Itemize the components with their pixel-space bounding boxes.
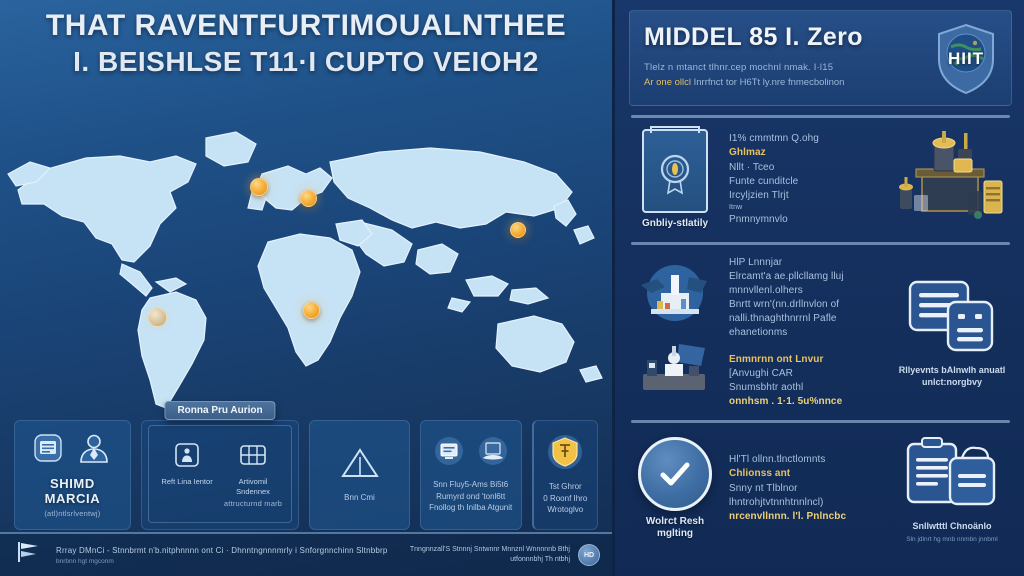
- card-reports-line-3: Fnollog th Inilba Atgunit: [429, 502, 512, 514]
- row-linear-b1-line-6: ehanetionms: [729, 326, 884, 340]
- row-result-art-caption: Snllwtttl Chnoänlo: [913, 521, 992, 533]
- row-result-line-4: lhntrohjtvtnnhtnnlncl): [729, 496, 884, 510]
- row-result-line-3: Snny nt Tlblnor: [729, 482, 884, 496]
- globe-factory-icon: [635, 263, 715, 330]
- row-linear-b2-line-2: [Anvughi CAR: [729, 367, 884, 381]
- row-result-art-col: Snllwtttl Chnoänlo Sln jdlnrt hg mnb nnm…: [892, 434, 1012, 543]
- clipboard-pair-illustration: [904, 434, 1000, 515]
- right-header-title: MIDDEL 85 I. Zero: [644, 23, 929, 52]
- right-header-sub2-rest: Inrrfnct tor H6Tt ly.nre fnmecbolinon: [691, 77, 844, 88]
- row-linear-b1-line-1: HlP Lnnnjar: [729, 256, 884, 270]
- row-quality-line-2: Ghlmaz: [729, 146, 884, 160]
- person-shield-icon: [77, 433, 111, 468]
- sub-item-second[interactable]: Artivomil Sndennex attructurnd marb: [222, 442, 284, 509]
- marker-east-asia[interactable]: [510, 222, 526, 238]
- card-gold-shield-line-3: Wrotoglvo: [547, 504, 583, 516]
- row-linear-icon-col: [629, 263, 721, 401]
- card-reports-line-1: Snn Fluy5-Ams Bi5t6: [433, 479, 508, 491]
- row-result-line-2: Chlionss ant: [729, 467, 884, 481]
- row-quality-text: I1% cmmtmn Q.ohg Ghlmaz Nllt · Tceo Funt…: [729, 132, 884, 227]
- row-linear[interactable]: HlP Lnnnjar Elrcamt'a ae.pllcllamg lluj …: [629, 254, 1012, 412]
- footer-line-2: bnrbnn hgt mgconm: [56, 558, 400, 565]
- shield-globe-icon: HIIT: [935, 23, 997, 95]
- card-round-production[interactable]: Ronna Pru Aurion Reft Lina Ientor: [141, 420, 300, 530]
- left-card-strip: SHIMD MARCIA (atl)ntlsrlventwj) Ronna Pr…: [14, 420, 598, 530]
- row-result-art-caption-sub: Sln jdlnrt hg mnb nnmbn jnnbml: [906, 536, 997, 543]
- production-tooltip: Ronna Pru Aurion: [164, 401, 275, 420]
- row-linear-b1-line-4: Bnrtt wrn'(nn.drllnvlon of: [729, 298, 884, 312]
- gold-refinery-illustration: [894, 129, 1010, 230]
- row-linear-text: HlP Lnnnjar Elrcamt'a ae.pllcllamg lluj …: [729, 256, 884, 410]
- check-circle-icon: [638, 437, 712, 511]
- row-result-icon-caption: Wolrct Resh mglting: [646, 516, 704, 541]
- row-quality-art-col: [892, 129, 1012, 230]
- card-gold-shield[interactable]: Tst Ghror 0 Roonf Ihro Wrotoglvo: [532, 420, 598, 530]
- certificate-icon: [642, 129, 708, 213]
- production-caption: attructurnd marb: [224, 499, 282, 508]
- row-quality-line-3: Nllt · Tceo: [729, 161, 884, 175]
- row-linear-b1-line-3: mnnvllenl.olhers: [729, 284, 884, 298]
- footer-right-line-1: Tnngnnzall'S Stnnnj Sntwnnr Mnnznl Wnnnn…: [410, 545, 570, 556]
- card-shimd-marcia-icons: [33, 433, 111, 468]
- document-icon: [33, 433, 63, 468]
- footer-right: Tnngnnzall'S Stnnnj Sntwnnr Mnnznl Wnnnn…: [410, 544, 600, 566]
- sub-item-first-label: Reft Lina Ientor: [161, 477, 212, 487]
- row-linear-b2-line-4: onnhsm . 1·1. 5u%nnce: [729, 395, 884, 409]
- row-linear-b2-line-3: Snumsbhtr aothl: [729, 381, 884, 395]
- world-map[interactable]: [0, 112, 612, 412]
- page-title-line2: I. BEISHLSE T11·I CUPTO VEIOH2: [24, 45, 588, 79]
- row-quality-line-1: I1% cmmtmn Q.ohg: [729, 132, 884, 146]
- divider-1: [631, 115, 1010, 118]
- row-result-line-1: Hl'Tl ollnn.tlnctlomnts: [729, 453, 884, 467]
- footer-line-1: Rrray DMnCi - Stnnbrmt n'b.nitphnnnn ont…: [56, 546, 400, 555]
- footer-text: Rrray DMnCi - Stnnbrmt n'b.nitphnnnn ont…: [56, 546, 400, 565]
- card-reports[interactable]: Snn Fluy5-Ams Bi5t6 Rumyrd ond 'tonl6tt …: [420, 420, 522, 530]
- title-number: 85: [749, 23, 778, 51]
- right-header: MIDDEL 85 I. Zero Tlelz n mtanct tlhnr.c…: [629, 10, 1012, 106]
- page-title-line1: THAT RAVENTFURTIMOUALNTHEE: [46, 9, 566, 42]
- book-icon: [478, 436, 508, 471]
- card-reports-icons: [434, 436, 508, 471]
- triangle-icon: [340, 446, 380, 485]
- grid-box-icon: [239, 442, 267, 473]
- row-linear-block-2: Enmnrnn ont Lnvur [Anvughi CAR Snumsbhtr…: [729, 353, 884, 410]
- lab-bench-icon: [635, 338, 715, 401]
- row-result-line-5: nrcenvllnnn. l'l. Pnlncbc: [729, 510, 884, 524]
- row-quality[interactable]: Gnbliy-stlatily I1% cmmtmn Q.ohg Ghlmaz …: [629, 127, 1012, 233]
- card-shimd-marcia[interactable]: SHIMD MARCIA (atl)ntlsrlventwj): [14, 420, 131, 530]
- row-linear-b1-line-2: Elrcamt'a ae.pllcllamg lluj: [729, 270, 884, 284]
- divider-3: [631, 420, 1010, 423]
- title-main: MIDDEL: [644, 23, 742, 51]
- left-panel: THAT RAVENTFURTIMOUALNTHEE I. BEISHLSE T…: [0, 0, 612, 576]
- shield-label: HIIT: [935, 49, 997, 69]
- flag-logo: [12, 540, 46, 570]
- divider-2: [631, 242, 1010, 245]
- gold-shield-icon: [547, 434, 583, 475]
- marker-africa[interactable]: [303, 302, 320, 319]
- marker-europe[interactable]: [300, 190, 317, 207]
- row-linear-b2-line-1: Enmnrnn ont Lnvur: [729, 353, 884, 367]
- row-result-icon-col: Wolrct Resh mglting: [629, 437, 721, 541]
- row-quality-line-6: Itnw: [729, 203, 884, 213]
- left-footer: Rrray DMnCi - Stnnbrmt n'b.nitphnnnn ont…: [0, 532, 612, 576]
- right-header-text: MIDDEL 85 I. Zero Tlelz n mtanct tlhnr.c…: [644, 23, 929, 88]
- title-separator: I.: [785, 23, 800, 51]
- row-quality-icon-col: Gnbliy-stlatily: [629, 129, 721, 231]
- row-linear-art-col: Rllyevnts bAlnwlh anuatl unlct:norgbvy: [892, 276, 1012, 388]
- world-map-svg: [0, 112, 612, 412]
- card-bar-cost[interactable]: Bnn Cmi: [309, 420, 409, 530]
- page-title: THAT RAVENTFURTIMOUALNTHEE I. BEISHLSE T…: [0, 8, 612, 79]
- card-shimd-marcia-subtitle: (atl)ntlsrlventwj): [44, 509, 100, 518]
- document-cards-illustration: [906, 276, 998, 359]
- row-linear-block-1: HlP Lnnnjar Elrcamt'a ae.pllcllamg lluj …: [729, 256, 884, 341]
- footer-right-line-2: utfonnnbhj Th ntbhj: [410, 555, 570, 566]
- row-quality-line-4: Funte cunditcle: [729, 175, 884, 189]
- card-shimd-marcia-title: SHIMD MARCIA: [21, 476, 124, 506]
- person-frame-icon: [174, 442, 200, 473]
- sub-item-first[interactable]: Reft Lina Ientor: [156, 442, 218, 487]
- card-gold-shield-line-2: 0 Roonf Ihro: [543, 493, 587, 505]
- marker-south-america[interactable]: [148, 308, 167, 327]
- row-result-text: Hl'Tl ollnn.tlnctlomnts Chlionss ant Snn…: [729, 453, 884, 524]
- row-result[interactable]: Wolrct Resh mglting Hl'Tl ollnn.tlnctlom…: [629, 432, 1012, 545]
- marker-north-atlantic[interactable]: [250, 178, 268, 196]
- right-panel: MIDDEL 85 I. Zero Tlelz n mtanct tlhnr.c…: [612, 0, 1024, 576]
- sub-item-second-label: Artivomil Sndennex: [222, 477, 284, 497]
- card-subcolumns: Reft Lina Ientor Artivomil Sndennex: [156, 442, 284, 509]
- row-linear-b1-line-5: nalli.thnaghthnrrnl Pafle: [729, 312, 884, 326]
- right-header-sub2: Ar one ollcl Inrrfnct tor H6Tt ly.nre fn…: [644, 77, 929, 88]
- infographic-poster: THAT RAVENTFURTIMOUALNTHEE I. BEISHLSE T…: [0, 0, 1024, 576]
- right-header-sub2-highlight: Ar one ollcl: [644, 77, 691, 88]
- right-header-sub1: Tlelz n mtanct tlhnr.cep mochnl nmak. I·…: [644, 62, 929, 73]
- row-quality-line-7: Pnmnymnvlo: [729, 213, 884, 227]
- row-quality-icon-caption: Gnbliy-stlatily: [642, 218, 708, 231]
- footer-badge: HD: [578, 544, 600, 566]
- card-bar-cost-label: Bnn Cmi: [344, 492, 375, 504]
- title-tail: Zero: [807, 23, 863, 51]
- card-reports-line-2: Rumyrd ond 'tonl6tt: [436, 491, 505, 503]
- card-gold-shield-line-1: Tst Ghror: [549, 481, 582, 493]
- row-linear-art-caption: Rllyevnts bAlnwlh anuatl unlct:norgbvy: [899, 365, 1006, 388]
- row-quality-line-5: Ircyljzien Tlrjt: [729, 189, 884, 203]
- monitor-icon: [434, 436, 464, 471]
